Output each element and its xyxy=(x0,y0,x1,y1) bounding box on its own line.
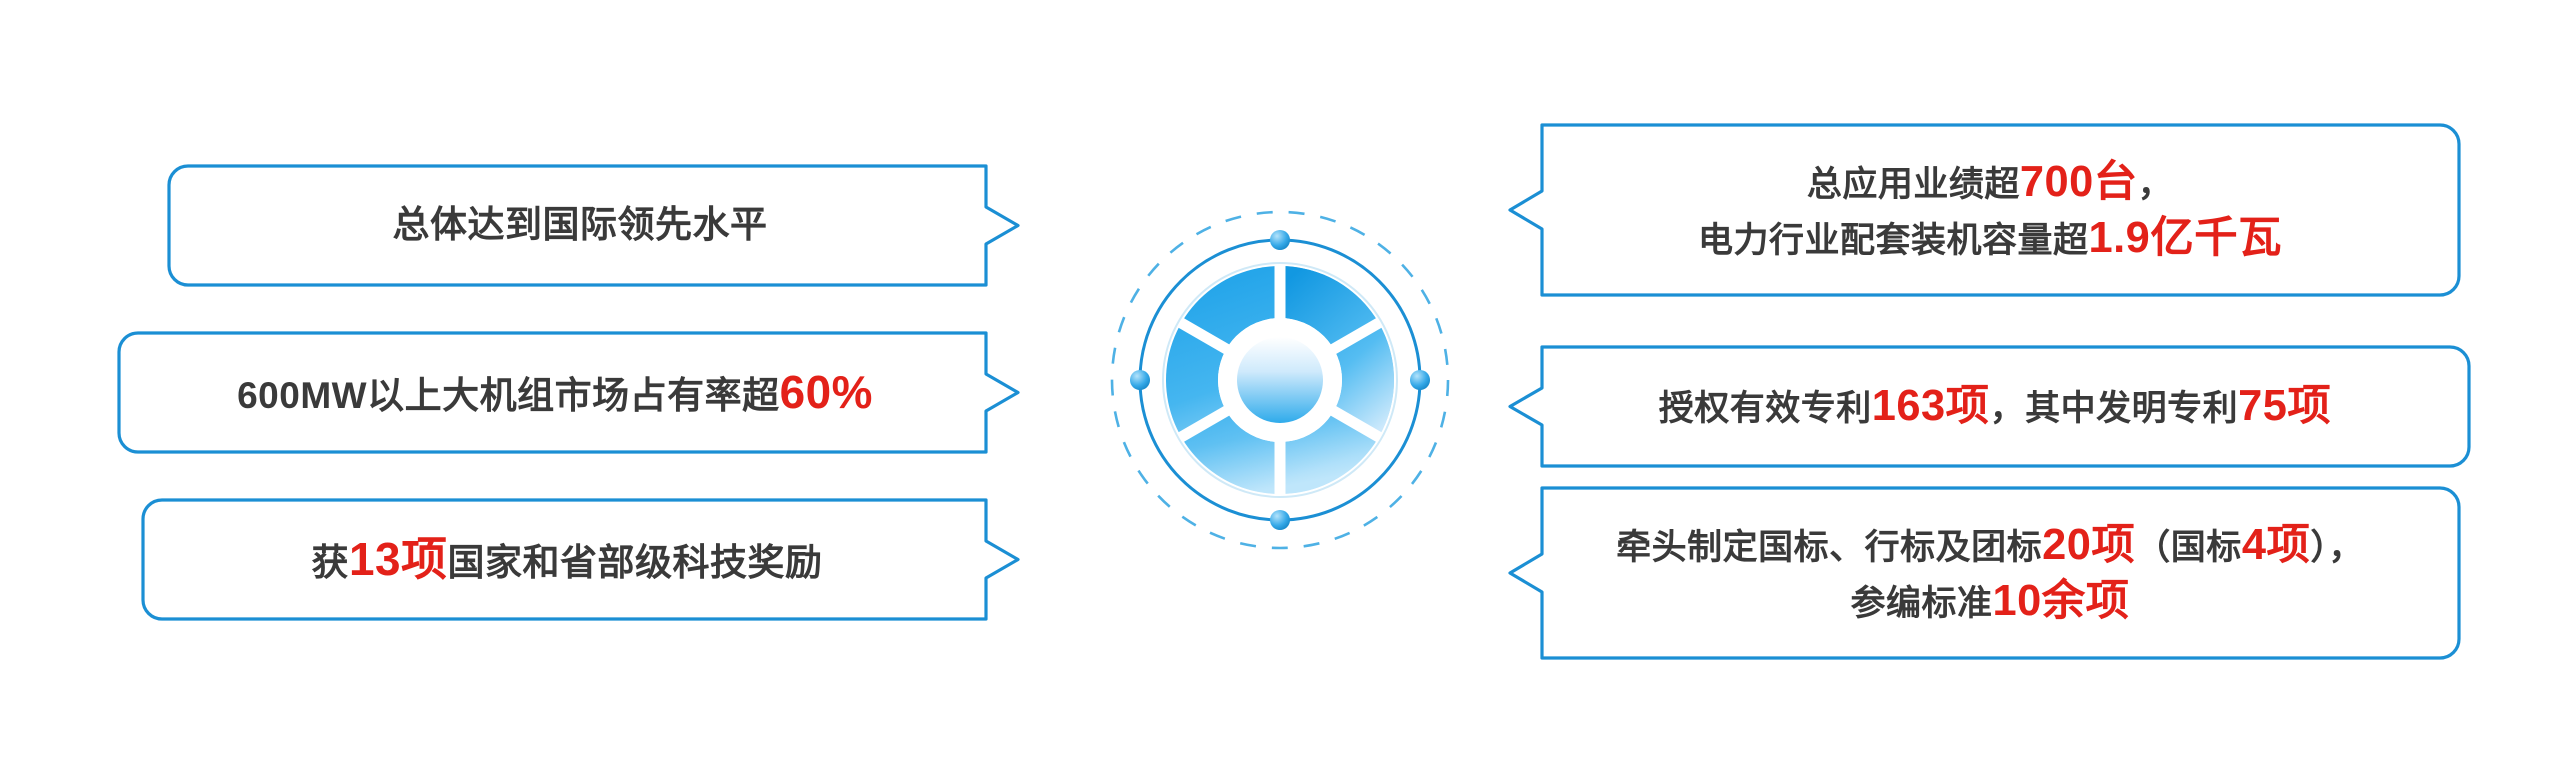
hub-core xyxy=(1237,337,1323,423)
callout-line: 获13项国家和省部级科技奖励 xyxy=(186,530,948,590)
callout-line: 600MW以上大机组市场占有率超60% xyxy=(162,363,948,423)
orbit-dot-bottom xyxy=(1270,510,1290,530)
highlight-value: 75项 xyxy=(2238,382,2331,430)
highlight-value: 13项 xyxy=(349,533,447,585)
callout-plain-text: ， xyxy=(2138,165,2174,204)
highlight-value: 10余项 xyxy=(1992,577,2129,625)
callout-plain-text: 总体达到国际领先水平 xyxy=(393,204,768,245)
callout-application-record: 总应用业绩超700台，电力行业配套装机容量超1.9亿千瓦 xyxy=(1486,122,2462,298)
callout-plain-text: 获 xyxy=(312,542,350,583)
callout-plain-text: 参编标准 xyxy=(1850,584,1992,623)
callout-patents: 授权有效专利163项，其中发明专利75项 xyxy=(1486,344,2472,469)
callout-line: 总应用业绩超700台， xyxy=(1564,154,2416,210)
callout-plain-text: 授权有效专利 xyxy=(1659,389,1872,428)
callout-plain-text: 电力行业配套装机容量超 xyxy=(1698,221,2089,260)
callout-science-awards: 获13项国家和省部级科技奖励 xyxy=(140,497,1026,622)
infographic-canvas: 总体达到国际领先水平 600MW以上大机组市场占有率超60% 获13项国家和省部… xyxy=(0,0,2573,757)
callout-plain-text: 牵头制定国标、行标及团标 xyxy=(1616,528,2042,567)
callout-text: 牵头制定国标、行标及团标20项（国标4项），参编标准10余项 xyxy=(1486,517,2462,630)
highlight-value: 700台 xyxy=(2020,158,2138,206)
callout-market-share: 600MW以上大机组市场占有率超60% xyxy=(116,330,1026,455)
orbit-dot-right xyxy=(1410,370,1430,390)
callout-text: 授权有效专利163项，其中发明专利75项 xyxy=(1486,378,2472,434)
callout-plain-text: 总应用业绩超 xyxy=(1807,165,2020,204)
callout-text: 600MW以上大机组市场占有率超60% xyxy=(116,363,1026,423)
highlight-value: 60% xyxy=(780,366,873,418)
callout-plain-text: （国标 xyxy=(2135,528,2242,567)
highlight-value: 4项 xyxy=(2242,521,2311,569)
orbit-dot-top xyxy=(1270,230,1290,250)
callout-plain-text: ）， xyxy=(2310,528,2364,567)
callout-text: 获13项国家和省部级科技奖励 xyxy=(140,530,1026,590)
callout-line: 电力行业配套装机容量超1.9亿千瓦 xyxy=(1564,210,2416,266)
highlight-value: 20项 xyxy=(2042,521,2135,569)
callout-text: 总应用业绩超700台，电力行业配套装机容量超1.9亿千瓦 xyxy=(1486,154,2462,267)
orbit-dot-left xyxy=(1130,370,1150,390)
callout-plain-text: 600MW以上大机组市场占有率超 xyxy=(237,375,779,416)
callout-plain-text: 国家和省部级科技奖励 xyxy=(447,542,822,583)
callout-plain-text: ，其中发明专利 xyxy=(1990,389,2239,428)
segmented-wheel-emblem xyxy=(1070,112,1490,652)
callout-text: 总体达到国际领先水平 xyxy=(166,201,1026,249)
callout-standards: 牵头制定国标、行标及团标20项（国标4项），参编标准10余项 xyxy=(1486,485,2462,661)
callout-line: 牵头制定国标、行标及团标20项（国标4项）， xyxy=(1564,517,2416,573)
callout-line: 参编标准10余项 xyxy=(1564,573,2416,629)
callout-line: 总体达到国际领先水平 xyxy=(212,201,948,249)
highlight-value: 1.9亿千瓦 xyxy=(2089,214,2283,262)
highlight-value: 163项 xyxy=(1872,382,1990,430)
callout-overall-level: 总体达到国际领先水平 xyxy=(166,163,1026,288)
callout-line: 授权有效专利163项，其中发明专利75项 xyxy=(1564,378,2426,434)
